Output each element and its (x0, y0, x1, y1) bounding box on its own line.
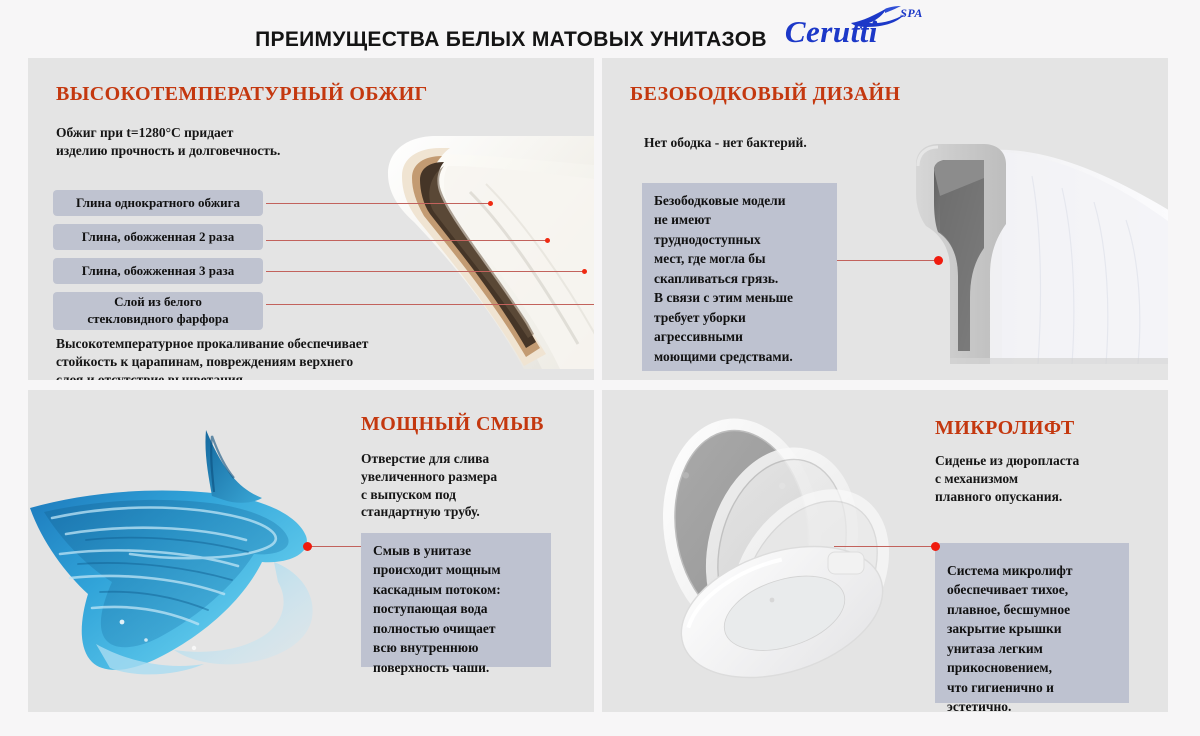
leader-line-2 (266, 240, 548, 241)
leader-line (309, 546, 361, 547)
leader-dot (303, 542, 312, 551)
layer-tag-1[interactable]: Глина однократного обжига (53, 190, 263, 216)
panel-subtitle: Сиденье из дюропласта с механизмом плавн… (935, 452, 1079, 505)
layer-tag-4[interactable]: Слой из белого стекловидного фарфора (53, 292, 263, 330)
toilet-seat-softclose-image (632, 400, 922, 680)
panel-callout[interactable]: Смыв в унитазе происходит мощным каскадн… (361, 533, 551, 667)
panel-microlift: МИКРОЛИФТ Сиденье из дюропласта с механи… (602, 390, 1168, 712)
panel-grid: ВЫСОКОТЕМПЕРАТУРНЫЙ ОБЖИГ Обжиг при t=12… (28, 58, 1168, 712)
panel-powerful-flush: МОЩНЫЙ СМЫВ Отверстие для слива увеличен… (28, 390, 594, 712)
panel-footnote: Высокотемпературное прокаливание обеспеч… (56, 335, 368, 380)
page-header: ПРЕИМУЩЕСТВА БЕЛЫХ МАТОВЫХ УНИТАЗОВ SPA … (0, 0, 1200, 58)
page-title: ПРЕИМУЩЕСТВА БЕЛЫХ МАТОВЫХ УНИТАЗОВ (255, 29, 767, 52)
water-vortex-image (28, 412, 326, 682)
panel-title: МИКРОЛИФТ (935, 418, 1075, 438)
leader-dot (931, 542, 940, 551)
leader-line (834, 546, 935, 547)
layer-tag-3[interactable]: Глина, обожженная 3 раза (53, 258, 263, 284)
panel-subtitle: Отверстие для слива увеличенного размера… (361, 450, 497, 521)
logo-wordmark: Cerutti (785, 16, 878, 47)
leader-line-3 (266, 271, 586, 272)
panel-title: МОЩНЫЙ СМЫВ (361, 414, 544, 434)
panel-subtitle: Нет ободка - нет бактерий. (644, 134, 807, 152)
leader-line (837, 260, 938, 261)
cerutti-logo: SPA Cerutti (785, 6, 925, 52)
leader-dot (934, 256, 943, 265)
panel-high-temperature-firing: ВЫСОКОТЕМПЕРАТУРНЫЙ ОБЖИГ Обжиг при t=12… (28, 58, 594, 380)
leader-dot-1 (488, 201, 493, 206)
panel-title: БЕЗОБОДКОВЫЙ ДИЗАЙН (630, 84, 900, 104)
leader-dot-2 (545, 238, 550, 243)
logo-spa-text: SPA (900, 6, 923, 21)
layer-tag-2[interactable]: Глина, обожженная 2 раза (53, 224, 263, 250)
toilet-rim-cross-section-image (374, 114, 594, 369)
leader-dot-3 (582, 269, 587, 274)
panel-callout[interactable]: Система микролифт обеспечивает тихое, пл… (935, 543, 1129, 703)
panel-title: ВЫСОКОТЕМПЕРАТУРНЫЙ ОБЖИГ (56, 84, 428, 104)
header-inner: ПРЕИМУЩЕСТВА БЕЛЫХ МАТОВЫХ УНИТАЗОВ SPA … (255, 6, 925, 52)
leader-line-4 (266, 304, 594, 305)
panel-subtitle: Обжиг при t=1280°С придает изделию прочн… (56, 124, 280, 160)
panel-rimless-design: БЕЗОБОДКОВЫЙ ДИЗАЙН Нет ободка - нет бак… (602, 58, 1168, 380)
leader-line-1 (266, 203, 491, 204)
panel-callout[interactable]: Безободковые модели не имеют труднодосту… (642, 183, 837, 371)
